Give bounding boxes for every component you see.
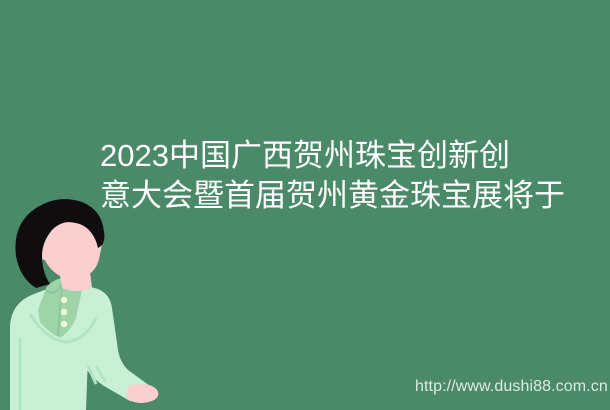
person-illustration [0, 190, 230, 410]
button-icon [61, 321, 67, 327]
headline-line-2: 意大会暨首届贺州黄金珠宝展将于 [100, 176, 540, 216]
headline-text: 2023中国广西贺州珠宝创新创 意大会暨首届贺州黄金珠宝展将于 [100, 136, 540, 216]
headline-line-1: 2023中国广西贺州珠宝创新创 [100, 136, 540, 176]
hand-shape [126, 384, 158, 403]
watermark-url: http://www.dushi88.com.cn [415, 378, 608, 396]
button-icon [61, 309, 67, 315]
image-canvas: 2023中国广西贺州珠宝创新创 意大会暨首届贺州黄金珠宝展将于 http://w… [0, 0, 610, 410]
button-icon [61, 297, 67, 303]
